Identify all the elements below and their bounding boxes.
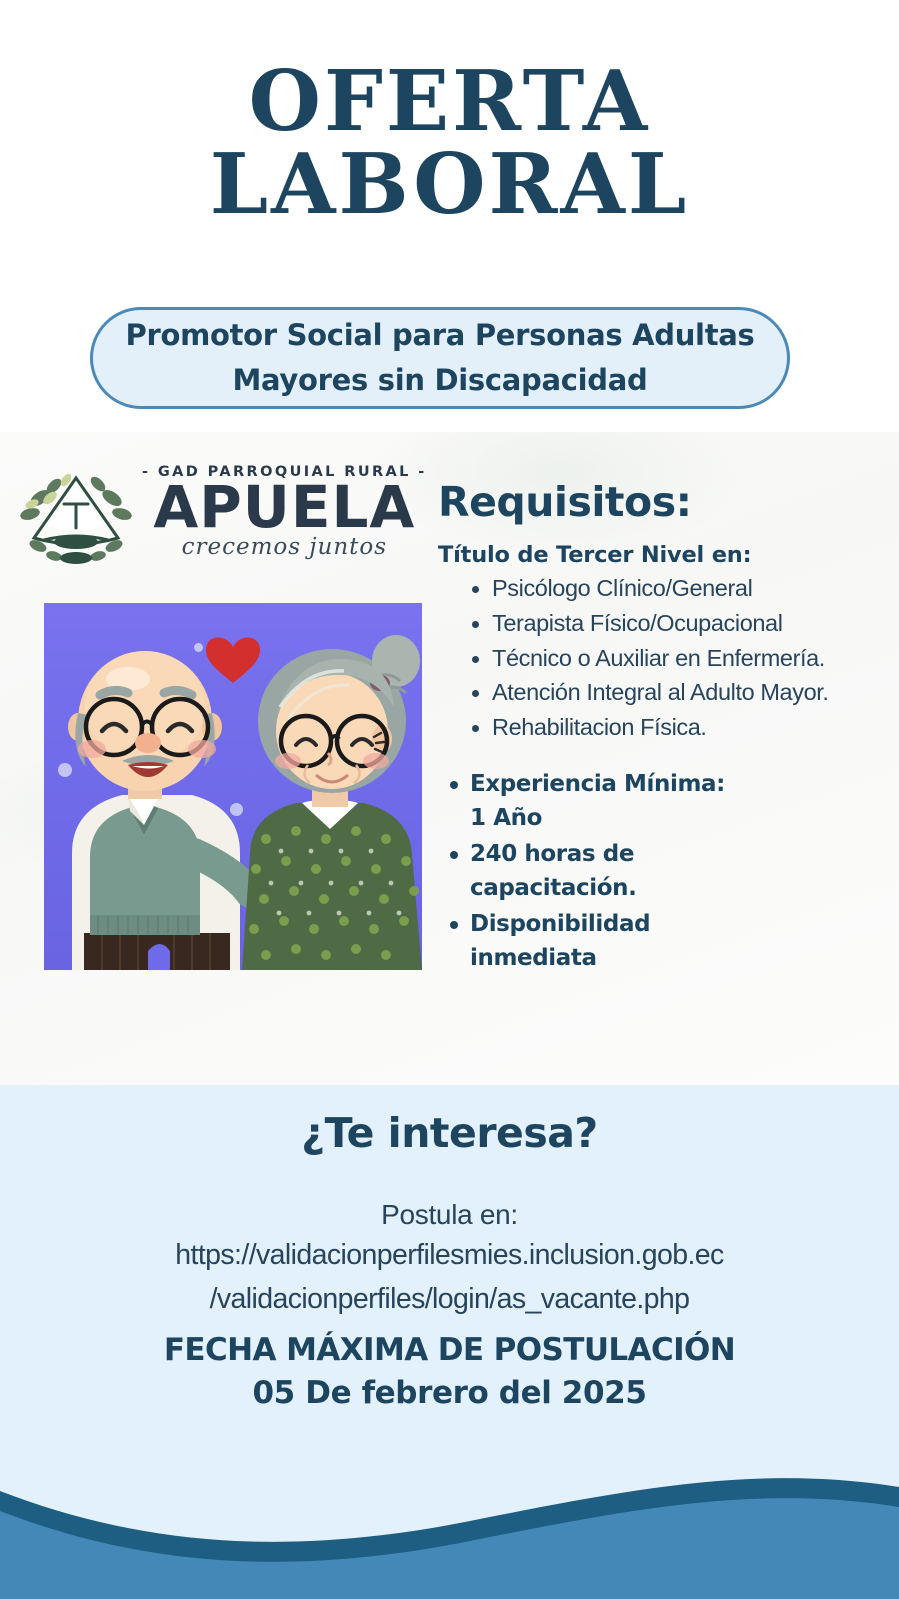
application-url-line-1[interactable]: https://validacionperfilesmies.inclusion… — [0, 1237, 899, 1275]
title-line-oferta: OFERTA — [0, 62, 899, 141]
requirements-heading: Requisitos: — [438, 478, 878, 526]
list-item: Experiencia Mínima: 1 Año — [448, 767, 748, 835]
heart-icon — [206, 637, 260, 683]
cta-lead-text: Postula en: — [0, 1199, 899, 1231]
title-line-laboral: LABORAL — [0, 145, 899, 224]
application-url-line-2[interactable]: /validacionperfiles/login/as_vacante.php — [0, 1281, 899, 1319]
requirements-subheading: Título de Tercer Nivel en: — [438, 542, 878, 568]
degree-list: Psicólogo Clínico/General Terapista Físi… — [438, 572, 878, 745]
call-to-action-panel: ¿Te interesa? Postula en: https://valida… — [0, 1085, 899, 1599]
apuela-logo: - GAD PARROQUIAL RURAL - APUELA crecemos… — [14, 452, 424, 572]
list-item: Rehabilitacion Física. — [472, 711, 878, 745]
poster-title: OFERTA LABORAL — [0, 62, 899, 224]
mountain-leaves-emblem-icon — [14, 454, 138, 570]
list-item: 240 horas de capacitación. — [448, 837, 748, 905]
cta-heading: ¿Te interesa? — [0, 1109, 899, 1157]
deadline-value: 05 De febrero del 2025 — [0, 1375, 899, 1411]
list-item: Psicólogo Clínico/General — [472, 572, 878, 606]
footer-wave — [0, 1429, 899, 1599]
job-position-label: Promotor Social para Personas Adultas Ma… — [93, 313, 787, 403]
logo-tagline: crecemos juntos — [142, 534, 427, 560]
list-item: Terapista Físico/Ocupacional — [472, 607, 878, 641]
list-item: Técnico o Auxiliar en Enfermería. — [472, 642, 878, 676]
elderly-couple-illustration — [44, 603, 422, 970]
job-position-banner: Promotor Social para Personas Adultas Ma… — [90, 307, 790, 409]
list-item: Disponibilidad inmediata — [448, 907, 748, 975]
logo-wordmark: - GAD PARROQUIAL RURAL - APUELA crecemos… — [142, 464, 427, 560]
logo-name: APUELA — [142, 478, 427, 536]
deadline-label: FECHA MÁXIMA DE POSTULACIÓN — [0, 1332, 899, 1368]
requirements-section: Requisitos: Título de Tercer Nivel en: P… — [438, 478, 878, 977]
list-item: Atención Integral al Adulto Mayor. — [472, 676, 878, 710]
conditions-list: Experiencia Mínima: 1 Año 240 horas de c… — [438, 767, 748, 975]
